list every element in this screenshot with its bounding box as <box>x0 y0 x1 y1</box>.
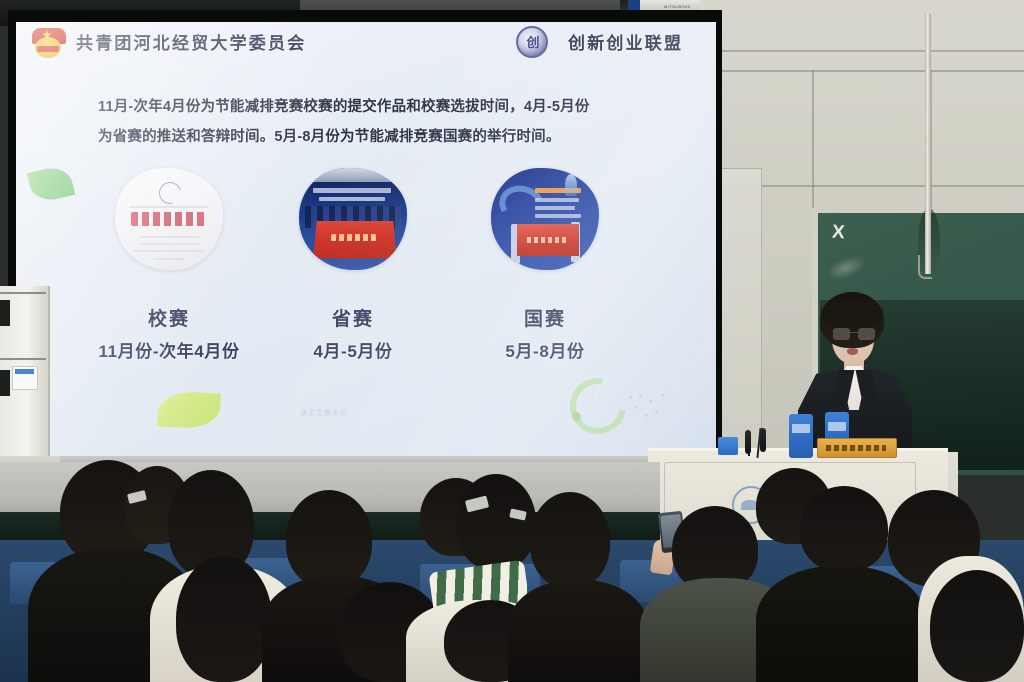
audience-head <box>176 556 272 682</box>
audience-head <box>530 492 610 588</box>
screen-pull-pole[interactable] <box>925 14 931 274</box>
card-national-period-label: 5月-8月份 <box>470 337 620 362</box>
slide-body-line-2: 为省赛的推送和答辩时间。5月-8月份为节能减排竞赛国赛的举行时间。 <box>98 122 648 152</box>
wall-seam <box>700 70 1024 72</box>
card-school-stage-label: 校赛 <box>94 304 244 331</box>
slide-header-left-title: 共青团河北经贸大学委员会 <box>76 29 306 54</box>
card-national-competition[interactable]: 国赛 5月-8月份 <box>470 168 620 362</box>
water-bottle-left[interactable] <box>789 414 813 458</box>
projector-brand-label: MITSUBISHI <box>664 4 691 9</box>
slide-body-line-1: 11月-次年4月份为节能减排竞赛校赛的提交作品和校赛选拔时间，4月-5月份 <box>98 92 648 122</box>
audience-head <box>456 474 536 570</box>
card-national-stage-label: 国赛 <box>470 304 620 331</box>
presenter-mouth <box>847 348 858 355</box>
slide-header: 共青团河北经贸大学委员会 创 创新创业联盟 <box>16 22 716 66</box>
projection-screen: 共青团河北经贸大学委员会 创 创新创业联盟 11月-次年4月份为节能减排竞赛校赛… <box>16 22 716 456</box>
innovation-alliance-glyph: 创 <box>525 34 541 52</box>
cabinet-handle[interactable] <box>0 370 10 396</box>
communist-youth-league-emblem <box>30 26 68 60</box>
microphone-right[interactable] <box>760 428 766 452</box>
audience-head <box>800 486 888 572</box>
water-cup[interactable] <box>718 437 738 455</box>
presenter-hair-fringe <box>821 302 883 328</box>
card-provincial-stage-label: 省赛 <box>278 304 428 331</box>
cabinet-seam <box>0 292 46 294</box>
speaker-nameplate <box>817 438 897 458</box>
audience-shoulders <box>508 580 648 682</box>
pole-hook <box>918 255 932 279</box>
audience-head <box>286 490 372 588</box>
eyeglasses-icon <box>833 328 873 338</box>
card-provincial-competition[interactable]: 省赛 4月-5月份 <box>278 168 428 362</box>
audience-head <box>930 570 1024 682</box>
certificate-photo <box>115 168 223 270</box>
innovation-alliance-logo: 创 <box>516 26 548 58</box>
competition-stage-cards: 校赛 11月份-次年4月份 省赛 4月-5月份 <box>16 168 716 398</box>
lecture-hall-scene: MITSUBISHI X 共青团河北经贸大学委员会 创 创新创业联盟 <box>0 0 1024 682</box>
microphone-left[interactable] <box>745 430 751 454</box>
slide-header-right-title: 创新创业联盟 <box>568 29 683 54</box>
national-ceremony-photo <box>491 168 599 270</box>
cabinet-handle[interactable] <box>0 300 10 326</box>
provincial-ceremony-photo <box>299 168 407 270</box>
audience-shoulders <box>756 566 926 682</box>
cabinet-label <box>12 366 38 390</box>
cabinet-seam <box>0 358 46 360</box>
card-provincial-period-label: 4月-5月份 <box>278 337 428 362</box>
slide-body-text: 11月-次年4月份为节能减排竞赛校赛的提交作品和校赛选拔时间，4月-5月份 为省… <box>98 92 648 152</box>
slide-watermark: 演示文稿水印 <box>300 408 348 418</box>
chalkboard-x-mark: X <box>831 222 845 245</box>
wall-seam <box>700 50 1024 52</box>
card-school-competition[interactable]: 校赛 11月份-次年4月份 <box>94 168 244 362</box>
card-school-period-label: 11月份-次年4月份 <box>94 337 244 362</box>
arc-dot-decoration <box>572 412 581 421</box>
